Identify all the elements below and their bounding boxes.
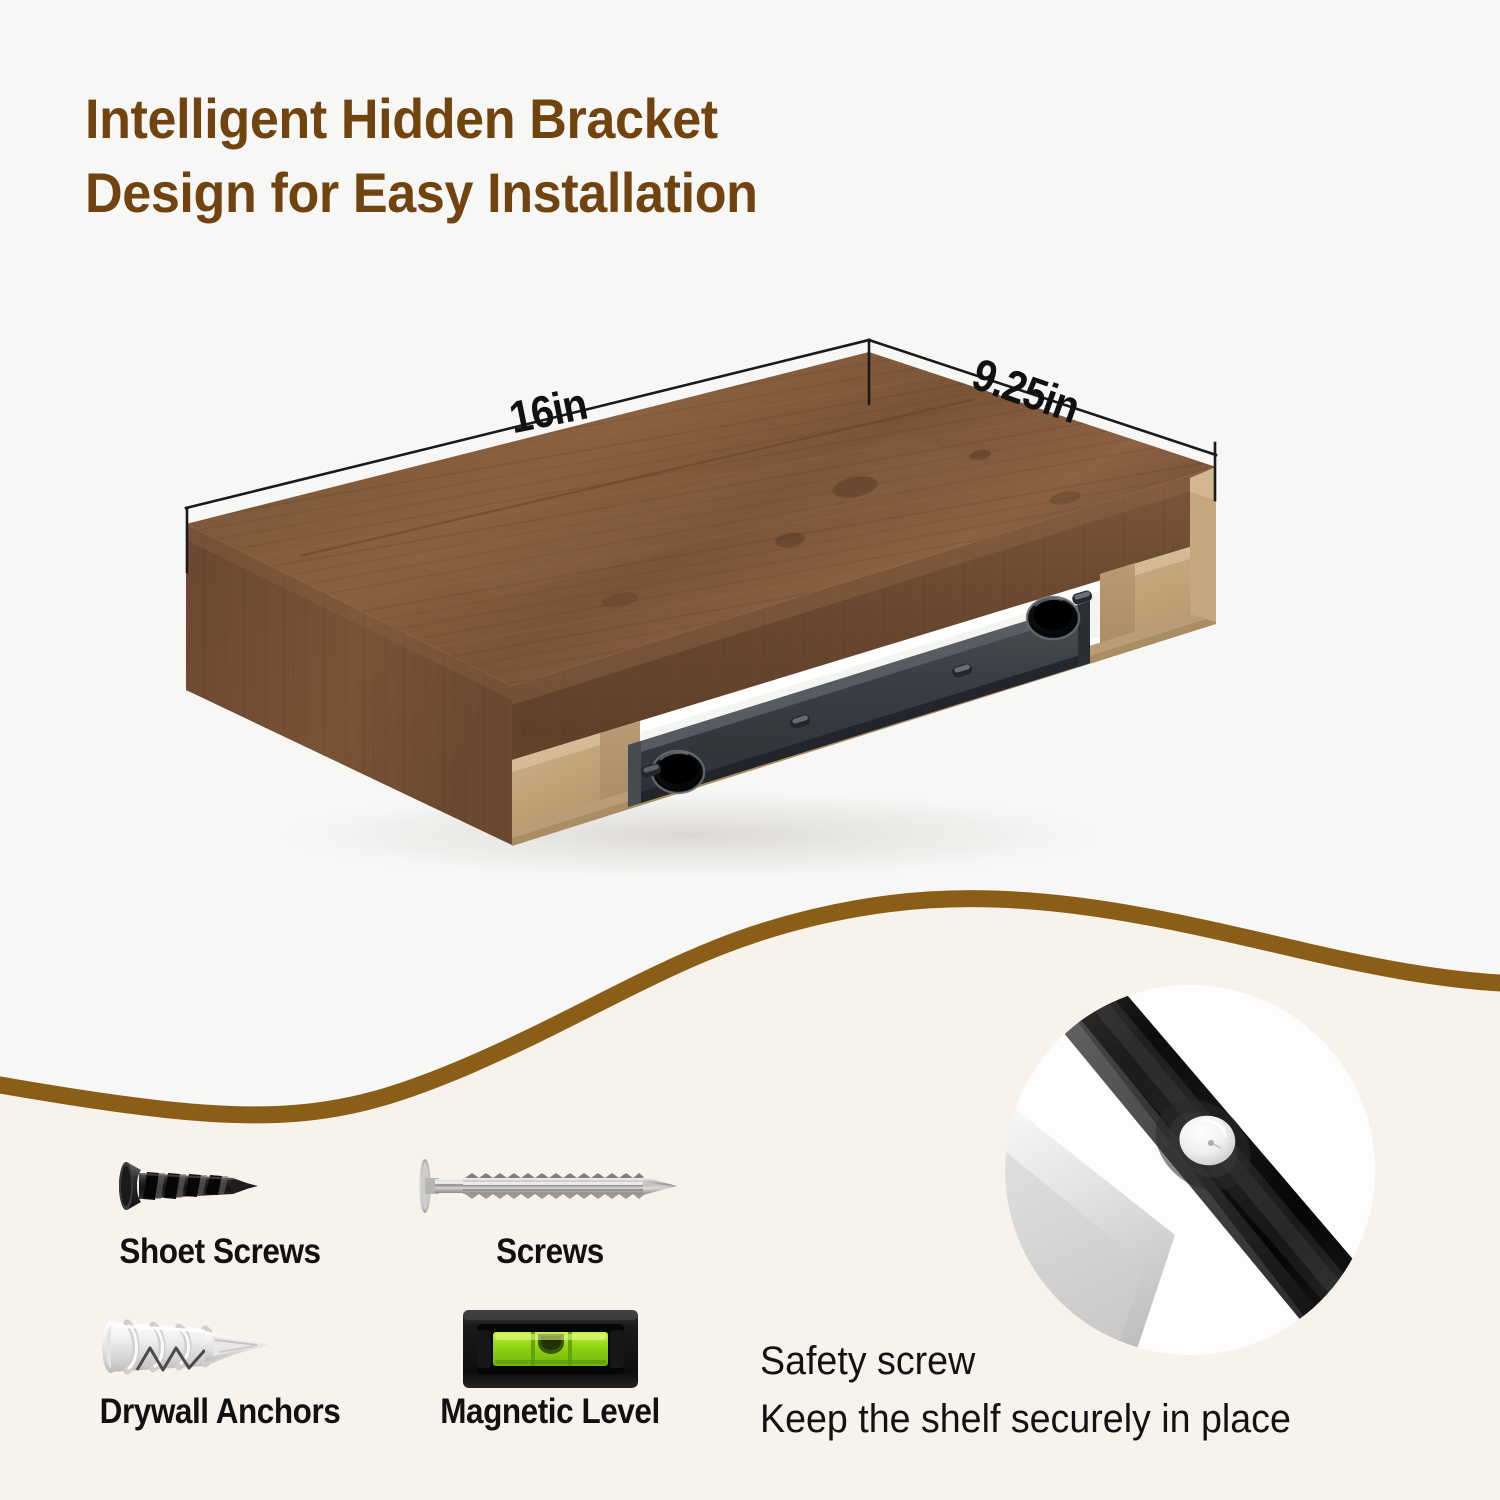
accessories-list: Shoet Screws bbox=[55, 1140, 715, 1460]
accessory-label: Shoet Screws bbox=[72, 1232, 369, 1272]
accessory-label: Drywall Anchors bbox=[72, 1392, 369, 1432]
safety-screw-closeup-image bbox=[1005, 985, 1375, 1355]
safety-screw-caption: Safety screw Keep the shelf securely in … bbox=[760, 1332, 1418, 1448]
black-screw-icon bbox=[55, 1140, 385, 1235]
accessory-item-drywall-anchors: Drywall Anchors bbox=[55, 1300, 385, 1460]
accessory-label: Magnetic Level bbox=[402, 1392, 699, 1432]
accessory-item-magnetic-level: Magnetic Level bbox=[385, 1300, 715, 1460]
accessory-label: Screws bbox=[402, 1232, 699, 1272]
dimension-annotations bbox=[0, 0, 1500, 1000]
drywall-anchor-icon bbox=[55, 1300, 385, 1395]
infographic-canvas: Intelligent Hidden Bracket Design for Ea… bbox=[0, 0, 1500, 1500]
magnetic-level-icon bbox=[385, 1300, 715, 1395]
silver-screw-icon bbox=[385, 1140, 715, 1235]
accessory-item-screws: Screws bbox=[385, 1140, 715, 1300]
accessory-item-shoet-screws: Shoet Screws bbox=[55, 1140, 385, 1300]
